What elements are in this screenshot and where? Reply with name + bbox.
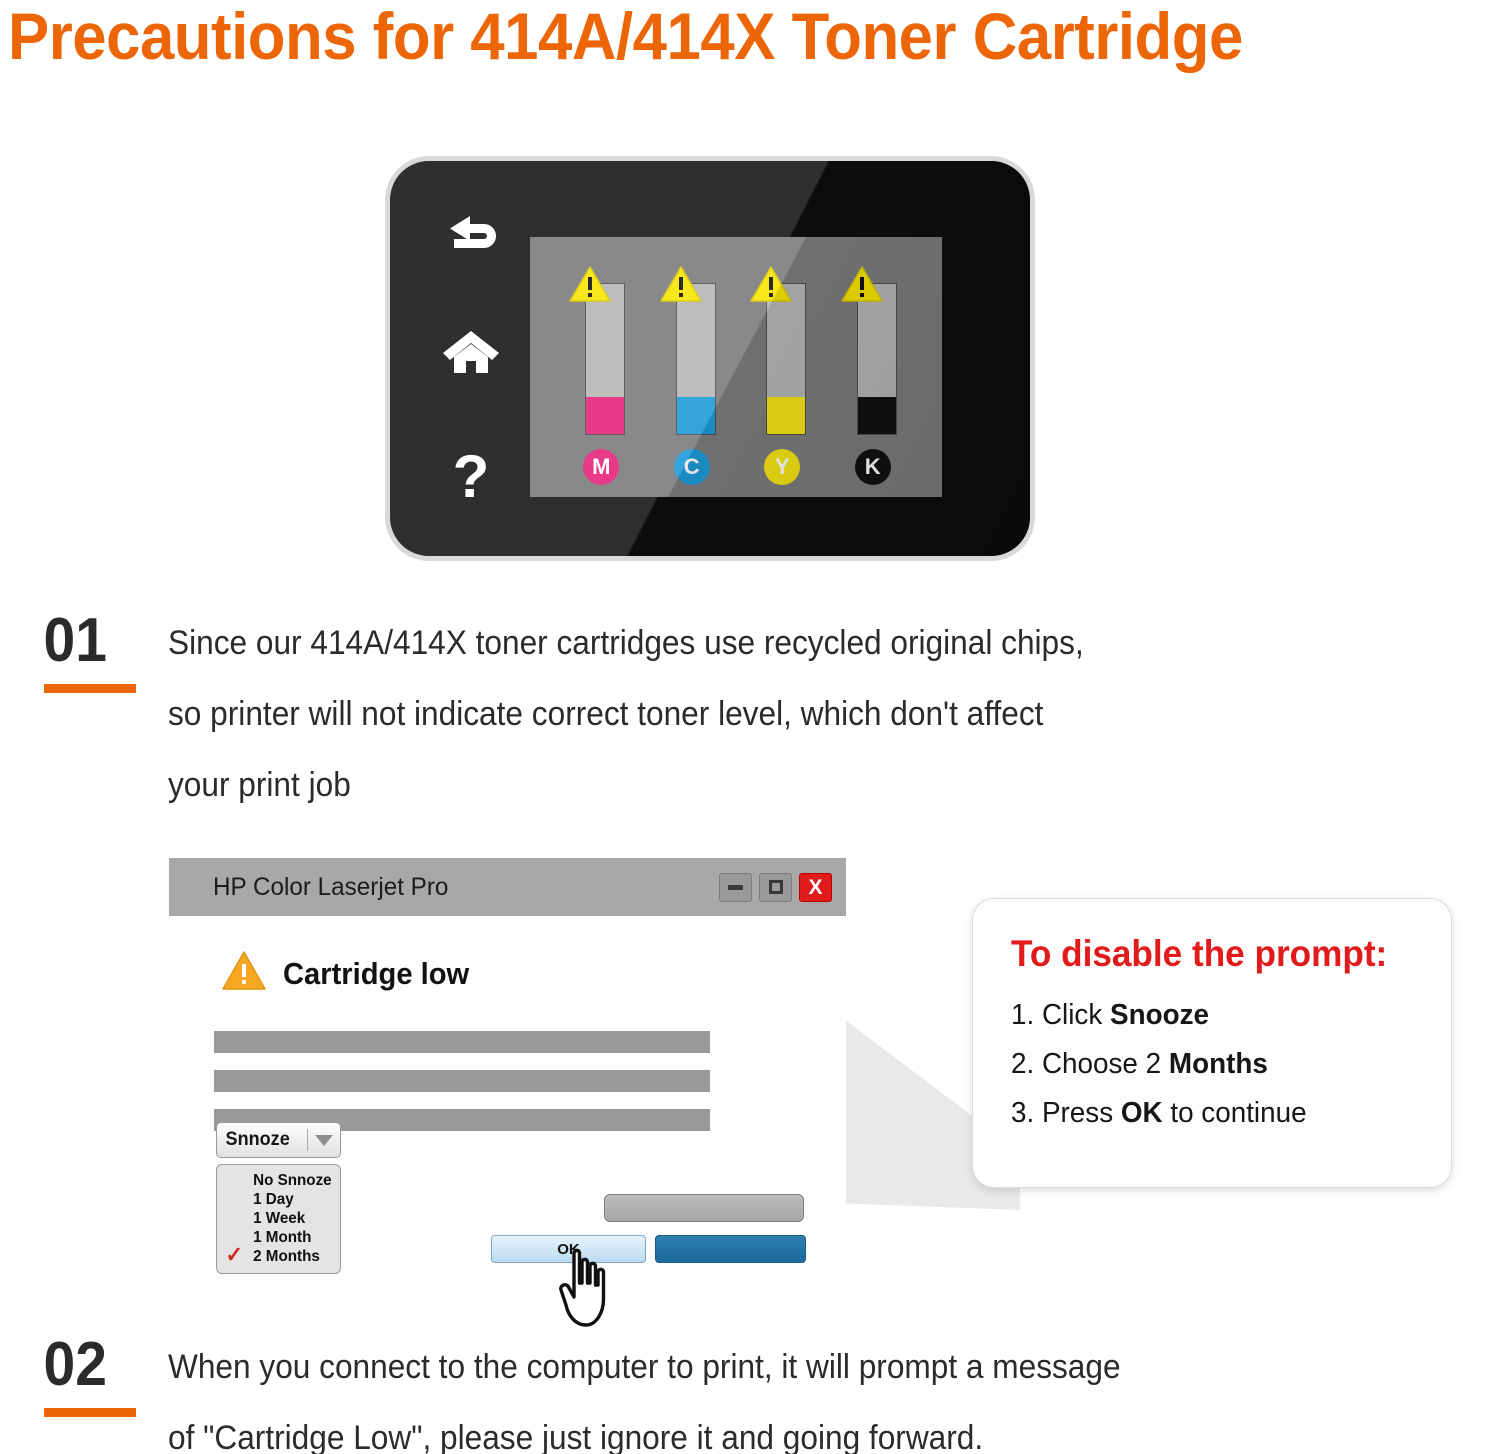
dialog-title: HP Color Laserjet Pro — [213, 873, 448, 902]
step-text-block: When you connect to the computer to prin… — [168, 1332, 1192, 1454]
minimize-icon — [728, 885, 743, 890]
snooze-option-selected[interactable]: ✓ 2 Months — [217, 1247, 334, 1266]
step-text-line: When you connect to the computer to prin… — [168, 1332, 1121, 1403]
callout-step-pre: Press — [1034, 1097, 1121, 1129]
snooze-select[interactable]: Snnoze — [216, 1122, 341, 1158]
callout-step: 3. Press OK to continue — [1011, 1089, 1412, 1138]
step-number: 01 — [38, 608, 158, 674]
warning-triangle-icon — [750, 265, 792, 308]
toner-fill-cyan — [677, 397, 715, 435]
panel-screen: M C — [530, 237, 942, 497]
disable-prompt-callout: To disable the prompt: 1. Click Snooze 2… — [972, 898, 1452, 1188]
help-icon[interactable]: ? — [446, 447, 496, 509]
step-number: 02 — [38, 1332, 158, 1398]
toner-badge-magenta: M — [583, 449, 619, 485]
toner-badge-cyan: C — [674, 449, 710, 485]
printer-control-panel: ? — [385, 156, 1035, 561]
maximize-icon — [769, 880, 783, 894]
snooze-option[interactable]: 1 Week — [217, 1209, 334, 1228]
svg-text:?: ? — [453, 447, 490, 509]
snooze-option-label: 1 Day — [253, 1191, 294, 1208]
dialog-alert: Cartridge low — [221, 950, 481, 997]
step-rule — [44, 1408, 136, 1417]
placeholder-line — [214, 1070, 710, 1092]
back-icon[interactable] — [440, 209, 502, 257]
snooze-option-label: 1 Month — [253, 1229, 311, 1246]
snooze-selected-label: Snnoze — [217, 1129, 303, 1151]
callout-step: 2. Choose 2 Months — [1011, 1040, 1412, 1089]
step-number-col: 01 — [38, 608, 168, 821]
snooze-option-label: No Snnoze — [253, 1172, 332, 1189]
callout-step-pre: Click — [1034, 999, 1110, 1031]
maximize-button[interactable] — [759, 873, 792, 902]
snooze-option[interactable]: 1 Day — [217, 1190, 334, 1209]
panel-nav-icons: ? — [428, 209, 514, 509]
toner-gauges: M C — [558, 255, 920, 487]
step-text-line: Since our 414A/414X toner cartridges use… — [168, 608, 1084, 679]
toner-badge-black: K — [855, 449, 891, 485]
snooze-option[interactable]: No Snnoze — [217, 1171, 334, 1190]
toner-fill-magenta — [586, 397, 624, 435]
callout-step-bold: Months — [1169, 1048, 1268, 1080]
snooze-options-list[interactable]: No Snnoze 1 Day 1 Week 1 Month ✓ 2 Month… — [216, 1164, 341, 1274]
step-text-block: Since our 414A/414X toner cartridges use… — [168, 608, 1153, 821]
toner-gauge-black: K — [849, 265, 901, 487]
toner-fill-black — [858, 397, 896, 435]
step-text-line: so printer will not indicate correct ton… — [168, 679, 1084, 750]
warning-triangle-icon — [841, 265, 883, 308]
callout-step-number: 2. — [1011, 1048, 1034, 1080]
toner-gauge-cyan: C — [668, 265, 720, 487]
precautions-infographic: Precautions for 414A/414X Toner Cartridg… — [0, 0, 1500, 1454]
dialog-alert-text: Cartridge low — [283, 956, 469, 992]
close-button[interactable]: X — [799, 873, 832, 902]
toner-fill-yellow — [767, 397, 805, 435]
step-block-01: 01 Since our 414A/414X toner cartridges … — [38, 608, 1468, 821]
placeholder-line — [214, 1031, 710, 1053]
dialog-titlebar: HP Color Laserjet Pro X — [169, 858, 846, 916]
callout-step-number: 3. — [1011, 1097, 1034, 1129]
callout-step: 1. Click Snooze — [1011, 991, 1412, 1040]
dialog-blue-button[interactable] — [655, 1235, 806, 1263]
minimize-button[interactable] — [719, 873, 752, 902]
step-rule — [44, 684, 136, 693]
step-text-line: of "Cartridge Low", please just ignore i… — [168, 1403, 1121, 1454]
snooze-option-label: 2 Months — [253, 1248, 320, 1265]
toner-gauge-magenta: M — [577, 265, 629, 487]
step-number-col: 02 — [38, 1332, 168, 1454]
checkmark-icon: ✓ — [226, 1245, 244, 1265]
window-controls: X — [719, 873, 832, 902]
warning-triangle-icon — [660, 265, 702, 308]
dialog-gray-button[interactable] — [604, 1194, 804, 1222]
warning-triangle-icon — [221, 950, 267, 997]
callout-step-pre: Choose 2 — [1034, 1048, 1169, 1080]
warning-triangle-icon — [569, 265, 611, 308]
panel-bezel: ? — [385, 156, 1035, 561]
callout-step-bold: OK — [1121, 1097, 1163, 1129]
step-text-line: your print job — [168, 750, 1084, 821]
callout-title: To disable the prompt: — [1011, 933, 1408, 975]
home-icon[interactable] — [441, 327, 501, 377]
snooze-option-label: 1 Week — [253, 1210, 305, 1227]
hand-cursor-icon — [553, 1247, 619, 1334]
callout-step-number: 1. — [1011, 999, 1034, 1031]
toner-badge-yellow: Y — [764, 449, 800, 485]
chevron-down-icon[interactable] — [308, 1135, 340, 1146]
page-title: Precautions for 414A/414X Toner Cartridg… — [8, 0, 1401, 76]
toner-gauge-yellow: Y — [758, 265, 810, 487]
step-block-02: 02 When you connect to the computer to p… — [38, 1332, 1468, 1454]
callout-step-post: to continue — [1163, 1097, 1307, 1129]
callout-step-bold: Snooze — [1110, 999, 1209, 1031]
